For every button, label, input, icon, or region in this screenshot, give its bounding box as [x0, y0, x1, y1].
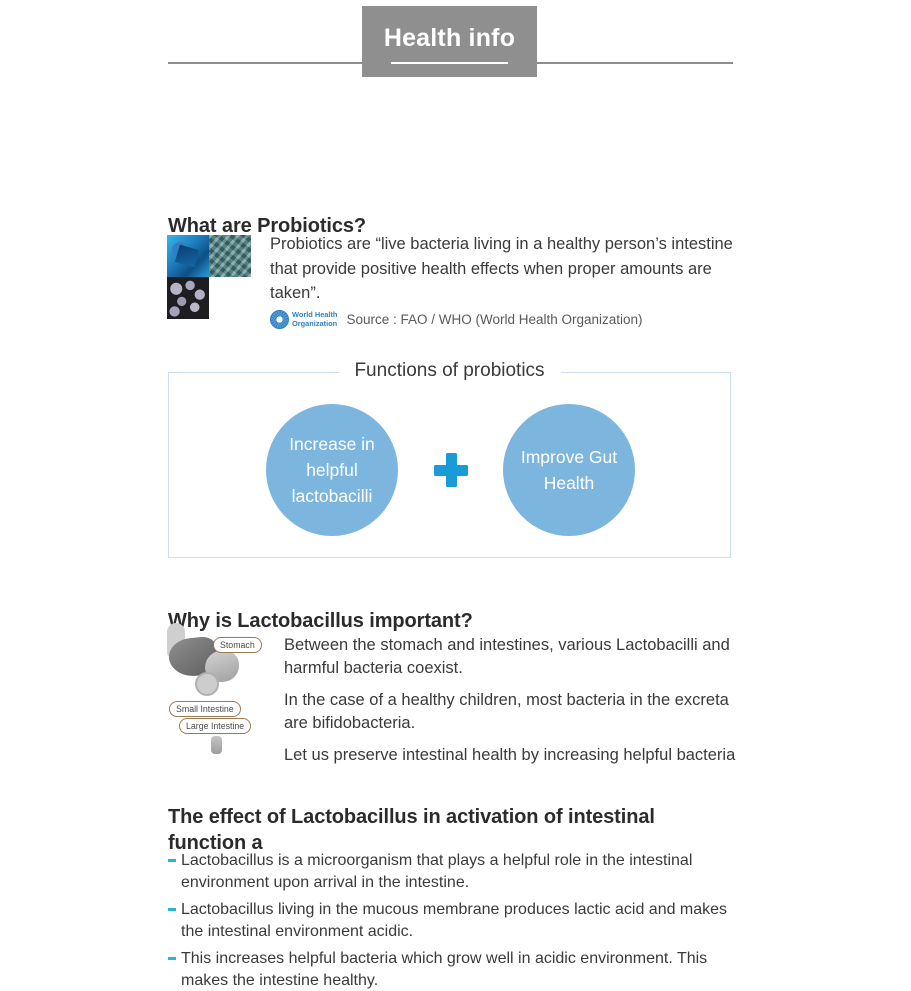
list-item: Lactobacillus living in the mucous membr…	[168, 899, 734, 942]
digestive-system-illustration: Stomach Small Intestine Large Intestine	[167, 632, 275, 754]
duodenum-shape	[195, 672, 219, 696]
rectum-shape	[211, 736, 222, 754]
probiotics-thumbnail-group	[167, 235, 251, 319]
lactobacillus-paragraph: Between the stomach and intestines, vari…	[284, 634, 736, 679]
page-title: Health info	[384, 24, 515, 53]
list-item: Lactobacillus is a microorganism that pl…	[168, 850, 734, 893]
who-logo-line-2: Organization	[292, 319, 337, 328]
effect-heading: The effect of Lactobacillus in activatio…	[168, 804, 728, 856]
lactobacillus-paragraph: In the case of a healthy children, most …	[284, 689, 736, 734]
function-circle-increase-lactobacilli: Increase in helpful lactobacilli	[266, 404, 398, 536]
bacteria-crystal-micrograph-image	[167, 235, 209, 277]
callout-stomach: Stomach	[213, 637, 262, 653]
lactobacillus-paragraph-group: Between the stomach and intestines, vari…	[284, 634, 736, 767]
who-logo: World Health Organization	[270, 310, 337, 329]
lactobacillus-paragraph: Let us preserve intestinal health by inc…	[284, 744, 736, 767]
effect-bullet-list: Lactobacillus is a microorganism that pl…	[168, 850, 734, 991]
callout-large-intestine: Large Intestine	[179, 718, 251, 734]
who-logo-text: World Health Organization	[292, 311, 337, 328]
functions-panel-title: Functions of probiotics	[338, 360, 560, 382]
probiotics-definition-text: Probiotics are “live bacteria living in …	[270, 232, 735, 306]
list-item: This increases helpful bacteria which gr…	[168, 948, 734, 991]
callout-small-intestine: Small Intestine	[169, 701, 241, 717]
functions-of-probiotics-panel: Functions of probiotics Increase in help…	[168, 372, 731, 558]
cocci-bacteria-micrograph-image	[167, 277, 209, 319]
source-attribution-row: World Health Organization Source : FAO /…	[270, 310, 643, 329]
who-emblem-icon	[270, 310, 289, 329]
page-header: Health info	[0, 0, 911, 84]
rod-bacteria-micrograph-image	[209, 235, 251, 277]
lactobacillus-heading: Why is Lactobacillus important?	[168, 608, 473, 634]
function-circle-improve-gut-health: Improve Gut Health	[503, 404, 635, 536]
plus-icon	[434, 453, 468, 487]
header-badge: Health info	[362, 6, 537, 77]
source-label: Source : FAO / WHO (World Health Organiz…	[346, 312, 642, 327]
header-badge-underline	[391, 62, 508, 64]
